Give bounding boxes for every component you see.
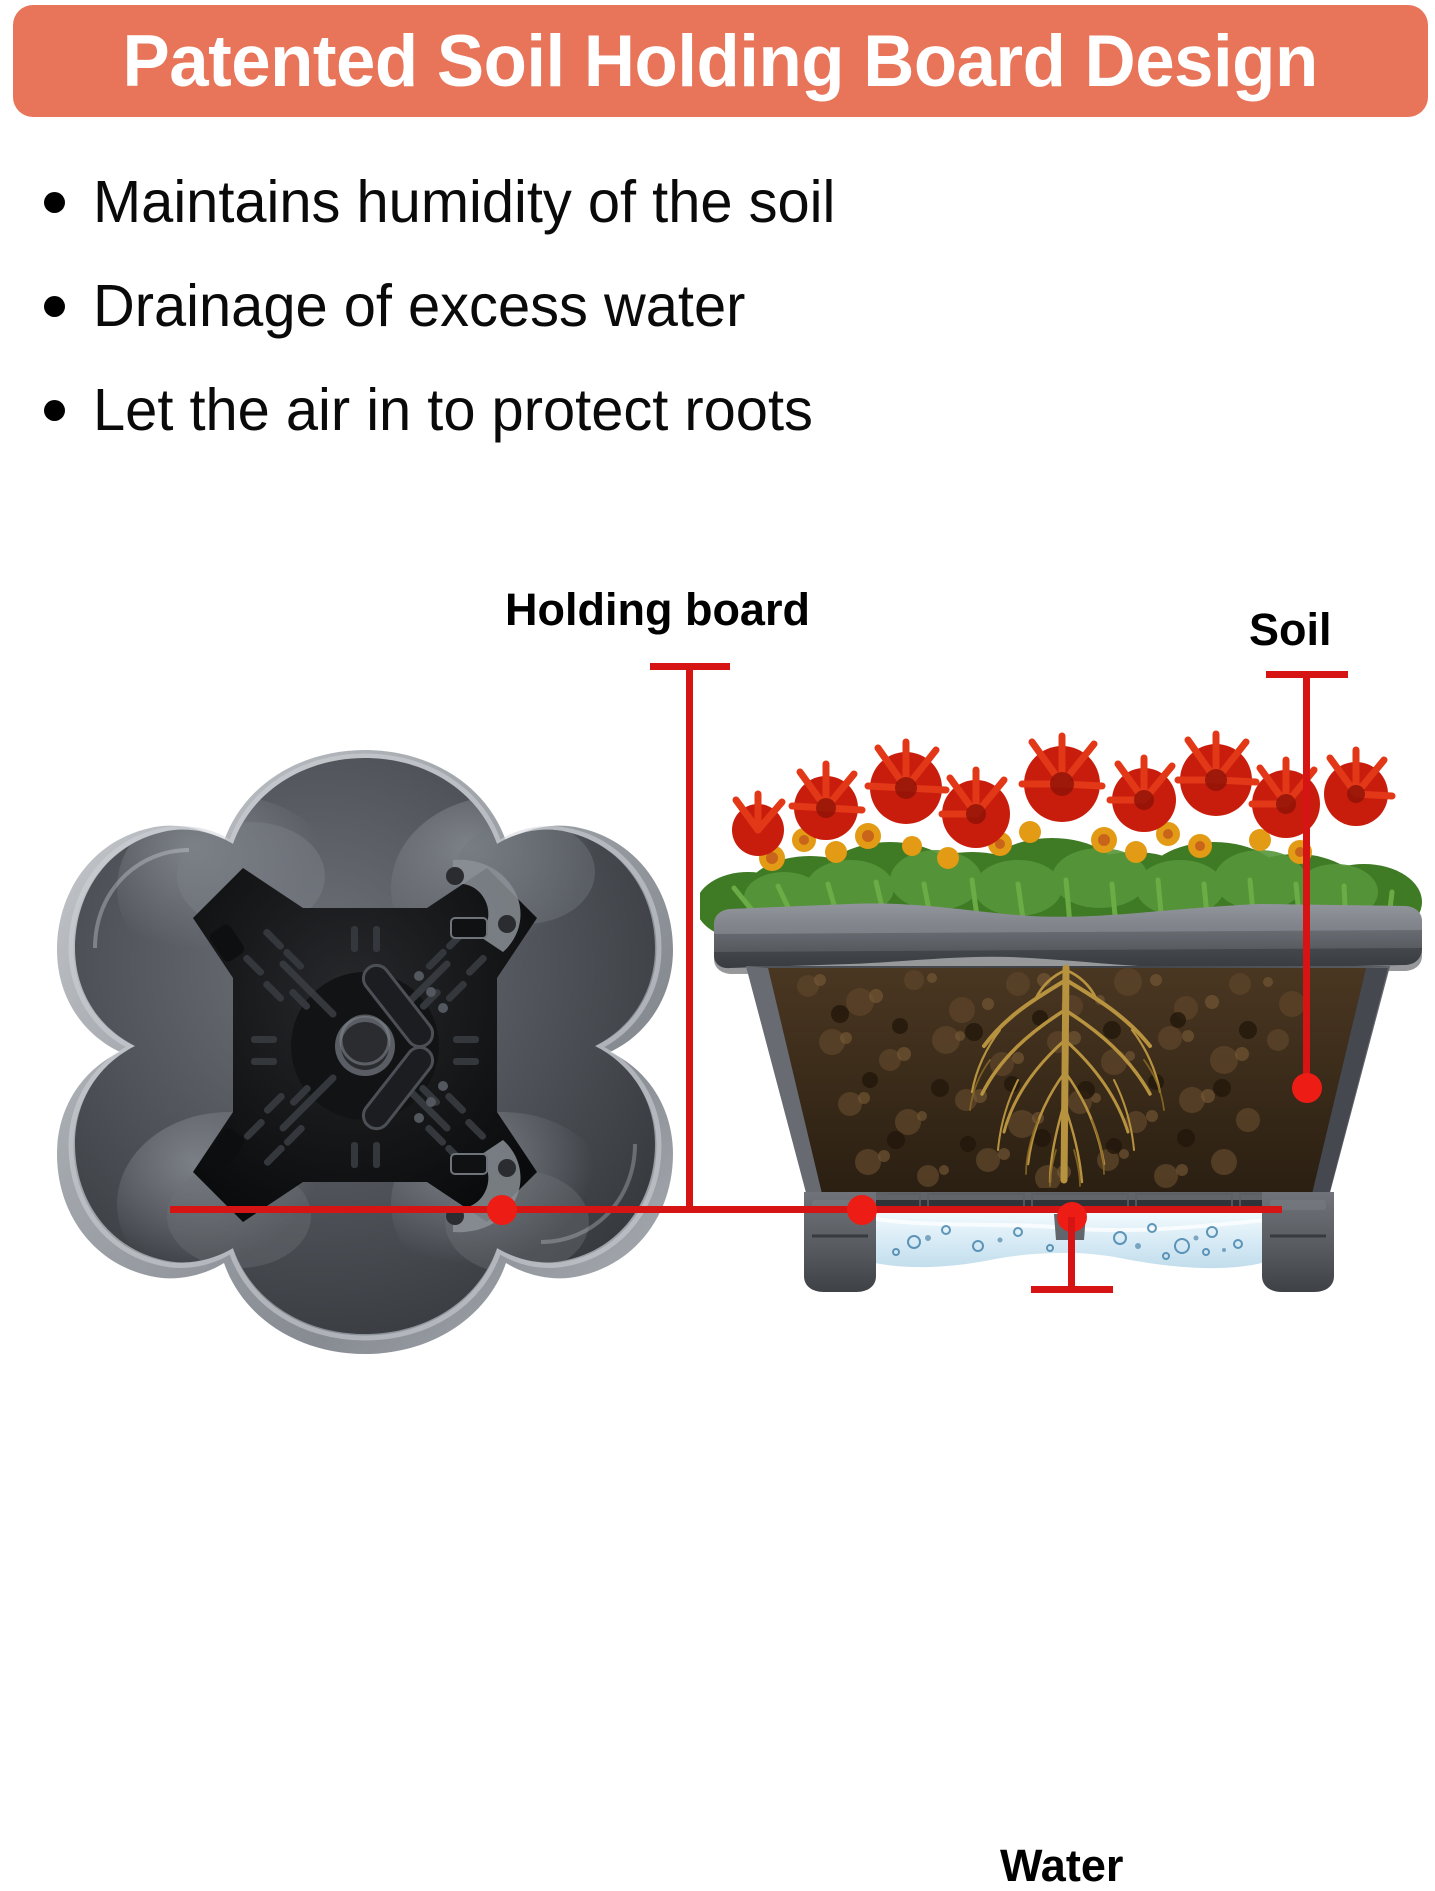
planter-top-view-image: [55, 740, 675, 1365]
callout-label-water: Water: [1000, 1843, 1123, 1888]
leader-holding-board-stem: [686, 663, 693, 1209]
list-item: Maintains humidity of the soil: [44, 150, 1144, 254]
soil-holding-board: [193, 860, 537, 1232]
leader-holding-board-horizontal: [170, 1206, 1282, 1213]
bullet-dot-icon: [44, 400, 65, 421]
feature-text: Let the air in to protect roots: [93, 381, 813, 440]
red-blooms: [732, 734, 1392, 856]
list-item: Let the air in to protect roots: [44, 358, 1144, 462]
leader-soil-stem: [1303, 671, 1310, 1086]
page-title: Patented Soil Holding Board Design: [123, 25, 1318, 98]
bullet-dot-icon: [44, 192, 65, 213]
leader-dot-holding-board-right: [847, 1195, 877, 1225]
product-diagram: Holding board Soil Water: [0, 540, 1435, 1375]
feature-text: Drainage of excess water: [93, 277, 745, 336]
leader-water-stem: [1068, 1217, 1075, 1289]
feature-text: Maintains humidity of the soil: [93, 173, 835, 232]
feature-list: Maintains humidity of the soil Drainage …: [44, 150, 1144, 462]
callout-label-holding-board: Holding board: [505, 587, 810, 632]
leader-dot-soil: [1292, 1073, 1322, 1103]
callout-label-soil: Soil: [1249, 607, 1332, 652]
leader-dot-holding-board-left: [487, 1195, 517, 1225]
header-banner: Patented Soil Holding Board Design: [13, 5, 1428, 117]
list-item: Drainage of excess water: [44, 254, 1144, 358]
leader-water-tbar: [1031, 1286, 1113, 1293]
bullet-dot-icon: [44, 296, 65, 317]
